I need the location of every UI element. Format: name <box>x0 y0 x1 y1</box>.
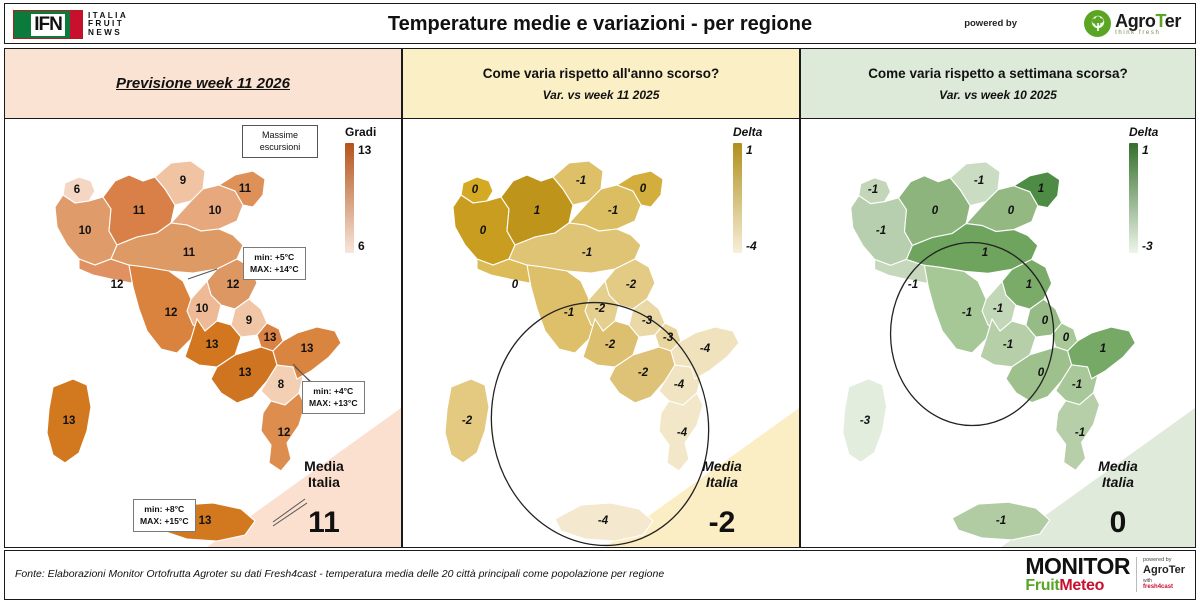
legend-delta-anno-title: Delta <box>733 125 762 139</box>
callout-abruzzo-min: min: +5°C <box>250 252 299 264</box>
legend-delta-anno-max: 1 <box>746 143 757 157</box>
panel2-media-label: Media Italia <box>667 458 777 490</box>
legend-gradi-max: 13 <box>358 143 371 157</box>
region-toscana <box>129 265 197 353</box>
region-value-friuli: 1 <box>1038 183 1044 195</box>
agroter-logo: AgroTer think fresh <box>1084 10 1181 37</box>
region-value-toscana: 12 <box>165 307 178 319</box>
callout-basilicata: min: +4°C MAX: +13°C <box>302 381 365 414</box>
region-value-campania: 13 <box>239 367 252 379</box>
region-value-liguria: -1 <box>908 279 918 291</box>
panel3-media-l1: Media <box>1063 458 1173 474</box>
panel3-media-label: Media Italia <box>1063 458 1173 490</box>
monitor-powered-label: powered by <box>1143 557 1185 564</box>
panel3-body: Delta 1 -3 Media Italia 0 -1-1-10-1011-1… <box>801 119 1195 548</box>
region-value-liguria: 12 <box>111 279 124 291</box>
region-value-piemonte: 10 <box>79 225 92 237</box>
panel3-subtitle: Var. vs week 10 2025 <box>939 88 1057 102</box>
panel3-title: Come varia rispetto a settimana scorsa? <box>868 66 1128 81</box>
region-value-calabria: 12 <box>278 427 291 439</box>
region-value-friuli: 11 <box>239 183 251 195</box>
monitor-name: MONITOR <box>1025 555 1130 578</box>
legend-gradi-title: Gradi <box>345 125 376 139</box>
panel3-media-value: 0 <box>1063 506 1173 540</box>
panel3-header: Come varia rispetto a settimana scorsa? … <box>801 49 1195 119</box>
region-value-trentino: -1 <box>974 175 984 187</box>
callout-sicilia-max: MAX: +15°C <box>140 516 189 528</box>
region-value-toscana: -1 <box>962 307 972 319</box>
panel1-header: Previsione week 11 2026 <box>5 49 401 119</box>
panel-var-anno: Come varia rispetto all'anno scorso? Var… <box>402 48 800 548</box>
region-value-calabria: -4 <box>677 427 687 439</box>
region-value-abruzzo: 9 <box>246 315 252 327</box>
region-value-lazio: -2 <box>605 339 615 351</box>
source-note: Fonte: Elaborazioni Monitor Ortofrutta A… <box>15 568 664 580</box>
region-value-sardegna: -3 <box>860 415 870 427</box>
panel2-media-l2: Italia <box>667 474 777 490</box>
legend-delta-anno-bar <box>733 143 742 253</box>
monitor-agroter: AgroTer <box>1143 564 1185 576</box>
region-value-trentino: -1 <box>576 175 586 187</box>
monitor-logo: MONITOR FruitMeteo powered by AgroTer wi… <box>1025 555 1185 594</box>
region-value-marche: 12 <box>227 279 240 291</box>
massime-escursioni-l2: escursioni <box>250 142 310 154</box>
region-toscana <box>924 265 992 353</box>
region-value-marche: -2 <box>626 279 636 291</box>
region-value-umbria: -1 <box>993 303 1003 315</box>
panel-var-settimana: Come varia rispetto a settimana scorsa? … <box>800 48 1196 548</box>
callout-sicilia: min: +8°C MAX: +15°C <box>133 499 196 532</box>
region-value-emilia: 11 <box>183 247 195 259</box>
powered-by-label: powered by <box>964 18 1017 29</box>
legend-delta-anno: Delta 1 -4 <box>733 125 762 253</box>
panel3-media-l2: Italia <box>1063 474 1173 490</box>
region-value-campania: 0 <box>1038 367 1044 379</box>
legend-delta-settimana-max: 1 <box>1142 143 1153 157</box>
panel2-subtitle: Var. vs week 11 2025 <box>543 88 660 102</box>
region-value-puglia: -4 <box>700 343 710 355</box>
region-value-lombardia: 11 <box>133 205 145 217</box>
region-value-valle-aosta: 0 <box>472 184 478 196</box>
region-value-emilia: -1 <box>582 247 592 259</box>
region-value-veneto: 0 <box>1008 205 1014 217</box>
header-bar: IFN ITALIA FRUIT NEWS Temperature medie … <box>4 3 1196 44</box>
region-value-toscana: -1 <box>564 307 574 319</box>
legend-gradi-bar <box>345 143 354 253</box>
region-value-piemonte: -1 <box>876 225 886 237</box>
agroter-name-b: T <box>1156 11 1165 31</box>
region-value-sicilia: 13 <box>199 515 212 527</box>
region-value-puglia: 1 <box>1100 343 1106 355</box>
region-value-lazio: 13 <box>206 339 219 351</box>
region-value-marche: 1 <box>1026 279 1032 291</box>
legend-delta-settimana: Delta 1 -3 <box>1129 125 1158 253</box>
panel-previsione: Previsione week 11 2026 Massime escursio… <box>4 48 402 548</box>
panel1-media-value: 11 <box>269 506 379 540</box>
region-value-campania: -2 <box>638 367 648 379</box>
legend-gradi-min: 6 <box>358 239 371 253</box>
panel2-header: Come varia rispetto all'anno scorso? Var… <box>403 49 799 119</box>
monitor-fresh4cast: fresh4cast <box>1143 584 1185 592</box>
massime-escursioni-l1: Massime <box>250 130 310 142</box>
region-value-puglia: 13 <box>301 343 314 355</box>
region-value-valle-aosta: -1 <box>868 184 878 196</box>
footer-bar: Fonte: Elaborazioni Monitor Ortofrutta A… <box>4 550 1196 600</box>
panel2-media-value: -2 <box>667 506 777 540</box>
monitor-side-credits: powered by AgroTer with fresh4cast <box>1136 557 1185 591</box>
region-value-umbria: 10 <box>196 303 209 315</box>
agroter-wordmark: AgroTer think fresh <box>1115 12 1181 36</box>
region-value-molise: -3 <box>663 332 673 344</box>
callout-basilicata-min: min: +4°C <box>309 386 358 398</box>
region-value-lombardia: 0 <box>932 205 938 217</box>
region-value-sicilia: -1 <box>996 515 1006 527</box>
region-value-calabria: -1 <box>1075 427 1085 439</box>
fruitmeteo-fruit: Fruit <box>1025 577 1059 594</box>
tree-icon <box>1084 10 1111 37</box>
panel2-media-l1: Media <box>667 458 777 474</box>
region-value-veneto: -1 <box>608 205 618 217</box>
region-value-valle-aosta: 6 <box>74 184 80 196</box>
region-value-sardegna: -2 <box>462 415 472 427</box>
panel1-media-l1: Media <box>269 458 379 474</box>
region-toscana <box>527 265 595 353</box>
region-value-abruzzo: -3 <box>642 315 652 327</box>
ifn-letters: IFN <box>31 14 65 36</box>
monitor-wordmark: MONITOR FruitMeteo <box>1025 555 1130 594</box>
legend-gradi: Gradi 13 6 <box>345 125 376 253</box>
infographic-page: IFN ITALIA FRUIT NEWS Temperature medie … <box>0 0 1200 603</box>
region-value-basilicata: 8 <box>278 379 284 391</box>
legend-delta-anno-min: -4 <box>746 239 757 253</box>
region-value-friuli: 0 <box>640 183 646 195</box>
panel2-body: Delta 1 -4 Media Italia -2 0001-1-10-1-1… <box>403 119 799 548</box>
region-value-sardegna: 13 <box>63 415 76 427</box>
legend-delta-settimana-bar <box>1129 143 1138 253</box>
region-value-emilia: 1 <box>982 247 988 259</box>
region-value-umbria: -2 <box>595 303 605 315</box>
callout-basilicata-max: MAX: +13°C <box>309 398 358 410</box>
region-value-veneto: 10 <box>209 205 222 217</box>
region-value-lombardia: 1 <box>534 205 540 217</box>
callout-abruzzo: min: +5°C MAX: +14°C <box>243 247 306 280</box>
legend-delta-settimana-min: -3 <box>1142 239 1153 253</box>
region-value-sicilia: -4 <box>598 515 608 527</box>
region-value-piemonte: 0 <box>480 225 486 237</box>
region-value-trentino: 9 <box>180 175 186 187</box>
region-value-abruzzo: 0 <box>1042 315 1048 327</box>
panel1-media-l2: Italia <box>269 474 379 490</box>
region-value-lazio: -1 <box>1003 339 1013 351</box>
region-value-molise: 0 <box>1063 332 1069 344</box>
callout-sicilia-min: min: +8°C <box>140 504 189 516</box>
region-value-liguria: 0 <box>512 279 518 291</box>
panel1-body: Massime escursioni Gradi 13 6 <box>5 119 401 548</box>
region-value-basilicata: -1 <box>1072 379 1082 391</box>
panel1-title: Previsione week 11 2026 <box>116 75 290 92</box>
massime-escursioni-box: Massime escursioni <box>242 125 318 158</box>
region-value-molise: 13 <box>264 332 277 344</box>
fruitmeteo-meteo: Meteo <box>1059 577 1104 594</box>
panel1-media-label: Media Italia <box>269 458 379 490</box>
agroter-name-c: er <box>1165 11 1181 31</box>
agroter-name-a: Agro <box>1115 11 1155 31</box>
legend-delta-settimana-title: Delta <box>1129 125 1158 139</box>
region-value-basilicata: -4 <box>674 379 684 391</box>
callout-abruzzo-max: MAX: +14°C <box>250 264 299 276</box>
panel2-title: Come varia rispetto all'anno scorso? <box>483 66 720 81</box>
